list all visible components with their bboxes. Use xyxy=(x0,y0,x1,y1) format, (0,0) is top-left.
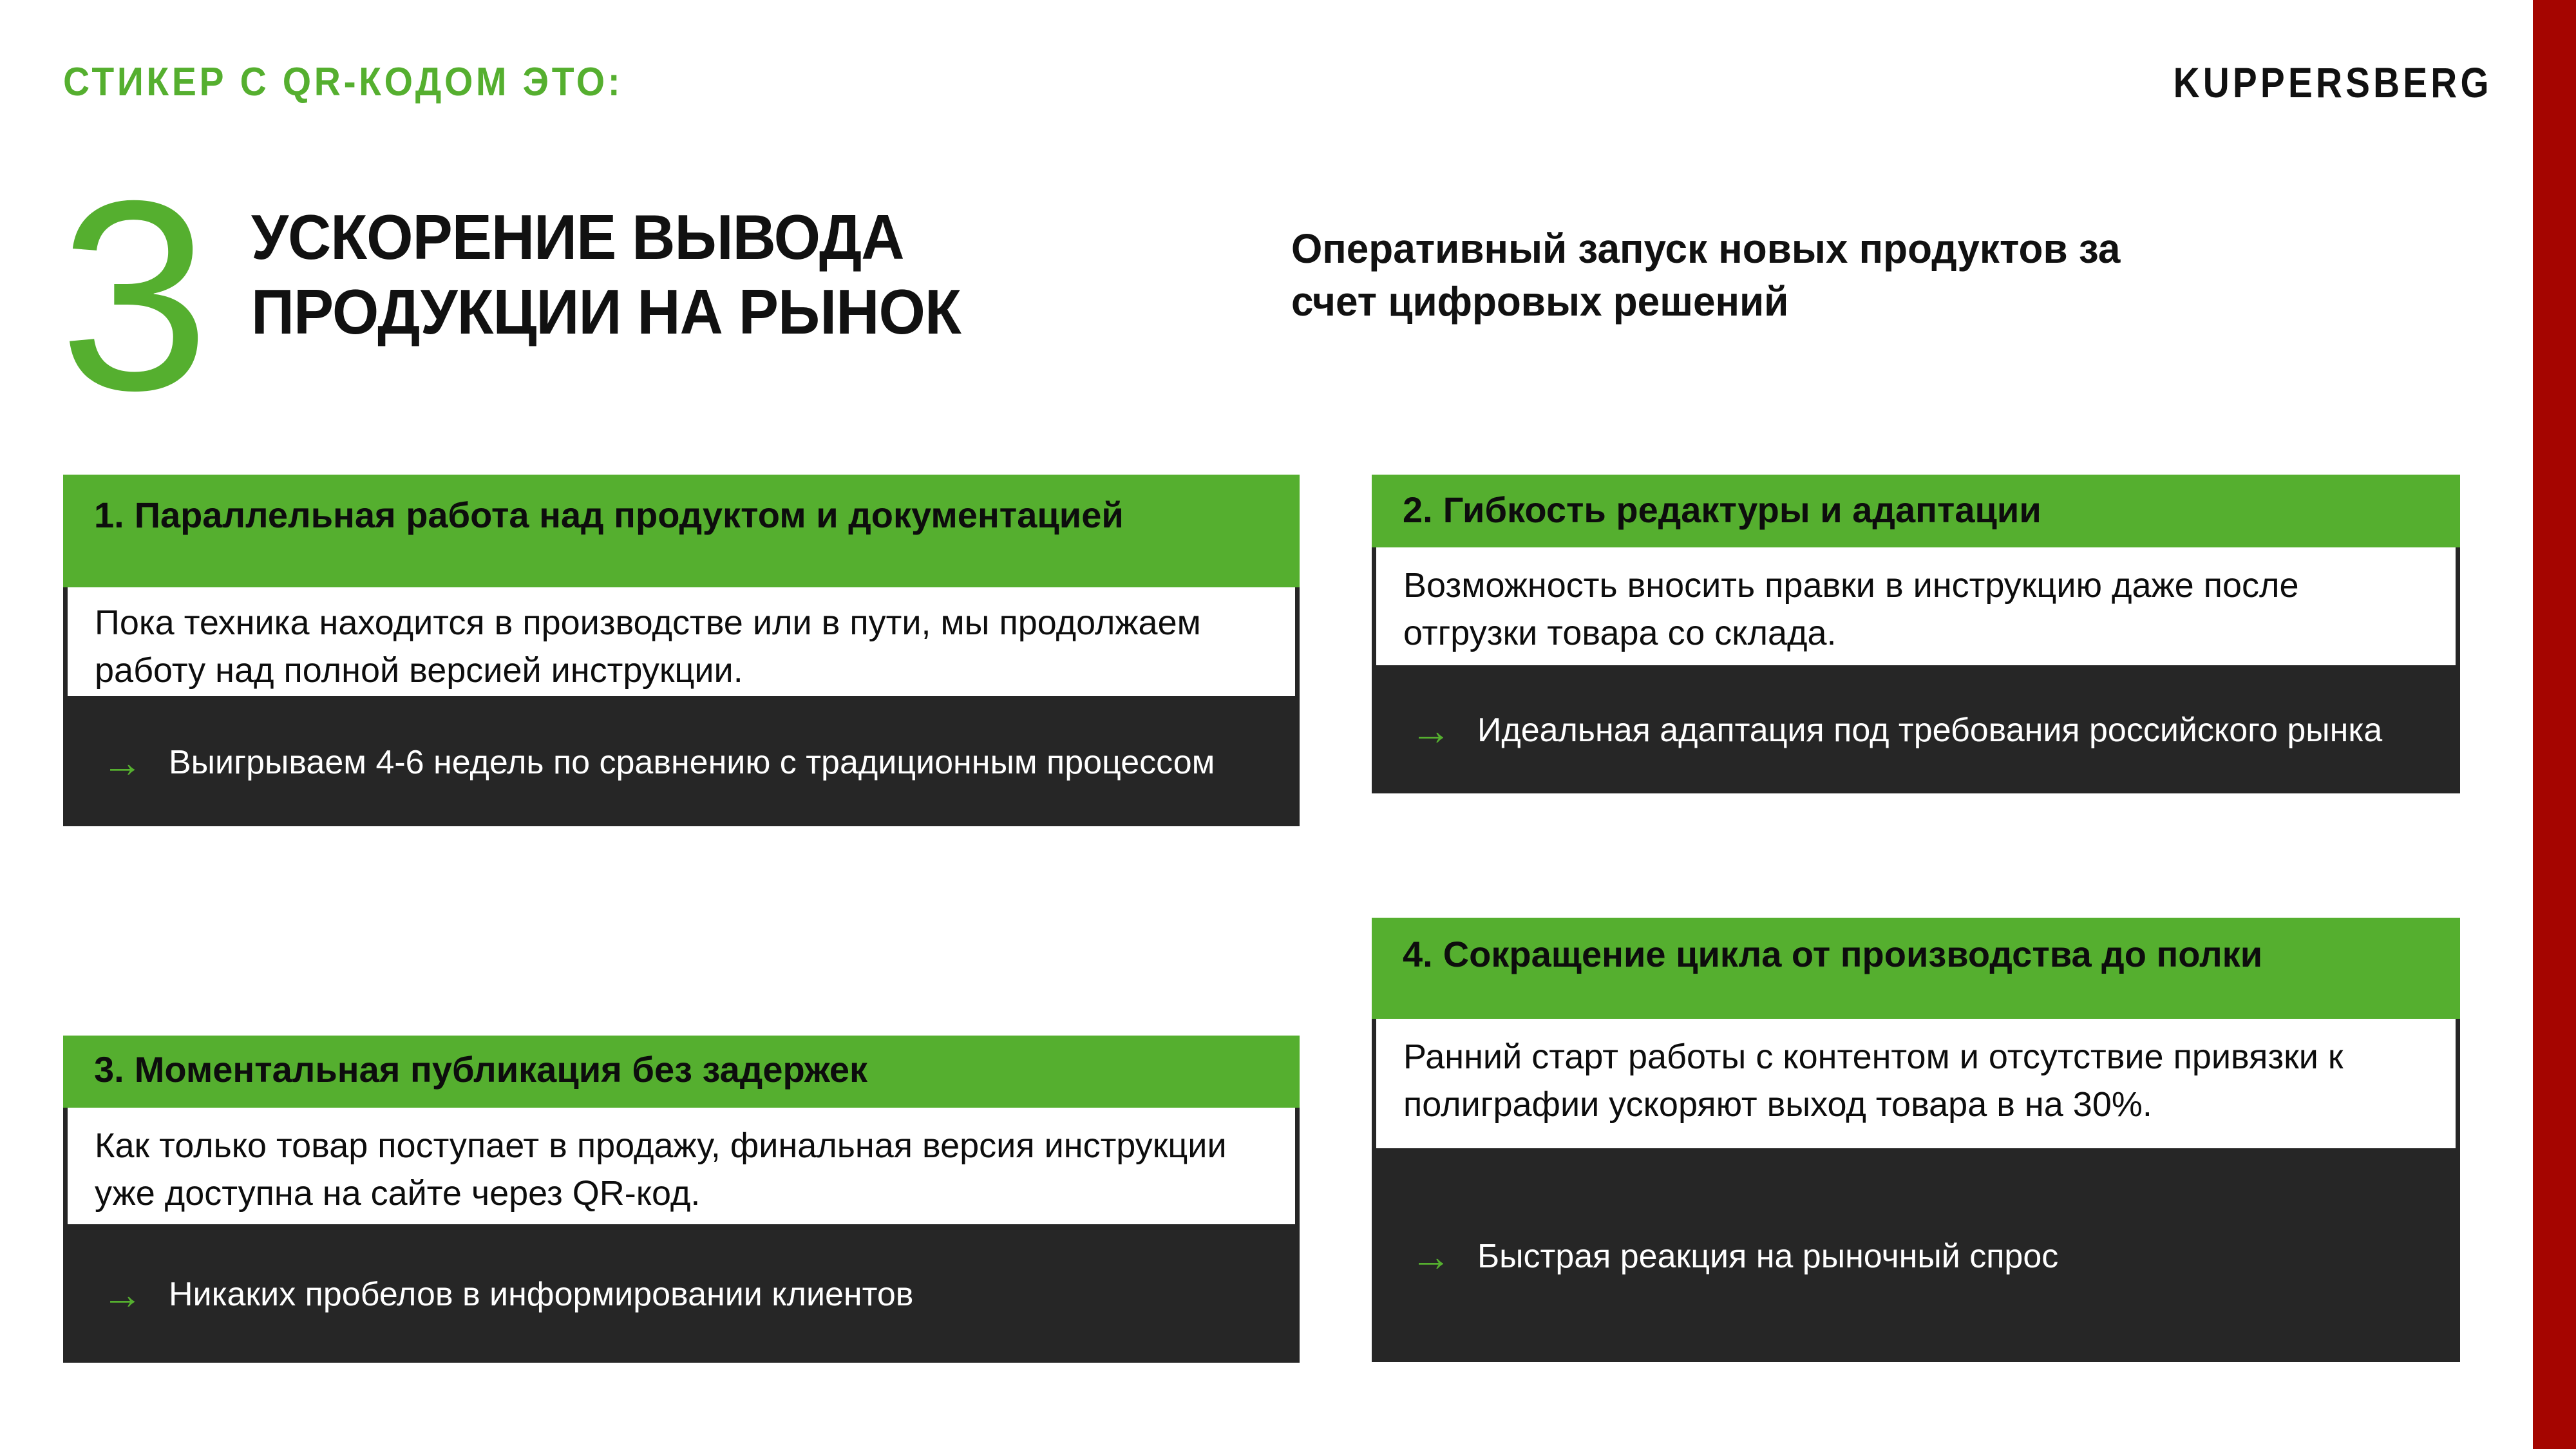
benefit-card-3: 3.Моментальная публикация без задержек К… xyxy=(63,1036,1300,1363)
arrow-right-icon: → xyxy=(1410,1236,1452,1277)
card-4-number: 4. xyxy=(1403,931,1443,978)
card-3-heading: Моментальная публикация без задержек xyxy=(135,1049,867,1090)
card-4-body: Ранний старт работы с контентом и отсутс… xyxy=(1372,1019,2460,1153)
section-number: 3 xyxy=(59,161,206,431)
card-2-header: 2.Гибкость редактуры и адаптации xyxy=(1372,475,2460,547)
card-1-body: Пока техника находится в производстве ил… xyxy=(63,587,1300,701)
card-4-header: 4.Сокращение цикла от производства до по… xyxy=(1372,918,2460,1019)
card-3-result: Никаких пробелов в информировании клиент… xyxy=(169,1272,913,1317)
card-3-header: 3.Моментальная публикация без задержек xyxy=(63,1036,1300,1108)
card-2-body: Возможность вносить правки в инструкцию … xyxy=(1372,547,2460,670)
card-1-footer: → Выигрываем 4-6 недель по сравнению с т… xyxy=(63,701,1300,826)
card-2-footer: → Идеальная адаптация под требования рос… xyxy=(1372,670,2460,793)
benefit-card-1: 1.Параллельная работа над продуктом и до… xyxy=(63,475,1300,826)
card-3-footer: → Никаких пробелов в информировании клие… xyxy=(63,1229,1300,1363)
page-subtitle: Оперативный запуск новых продуктов за сч… xyxy=(1291,222,2197,328)
card-4-footer: → Быстрая реакция на рыночный спрос xyxy=(1372,1153,2460,1362)
benefit-card-2: 2.Гибкость редактуры и адаптации Возможн… xyxy=(1372,475,2460,793)
card-2-result: Идеальная адаптация под требования росси… xyxy=(1477,708,2382,753)
card-1-number: 1. xyxy=(94,491,135,539)
card-1-heading: Параллельная работа над продуктом и доку… xyxy=(135,495,1124,535)
card-3-body: Как только товар поступает в продажу, фи… xyxy=(63,1108,1300,1229)
arrow-right-icon: → xyxy=(102,1274,143,1315)
card-1-result: Выигрываем 4-6 недель по сравнению с тра… xyxy=(169,740,1215,785)
benefit-card-4: 4.Сокращение цикла от производства до по… xyxy=(1372,918,2460,1362)
card-4-result: Быстрая реакция на рыночный спрос xyxy=(1477,1234,2058,1279)
red-accent-bar xyxy=(2533,0,2576,1449)
arrow-right-icon: → xyxy=(1410,710,1452,751)
card-2-number: 2. xyxy=(1403,486,1443,534)
card-4-heading: Сокращение цикла от производства до полк… xyxy=(1443,934,2262,974)
page-title: УСКОРЕНИЕ ВЫВОДА ПРОДУКЦИИ НА РЫНОК xyxy=(251,200,1206,349)
slide-canvas: СТИКЕР С QR-КОДОМ ЭТО: KUPPERSBERG 3 УСК… xyxy=(0,0,2576,1449)
card-3-number: 3. xyxy=(94,1046,135,1094)
brand-logo: KUPPERSBERG xyxy=(2173,58,2492,107)
arrow-right-icon: → xyxy=(102,742,143,783)
card-1-header: 1.Параллельная работа над продуктом и до… xyxy=(63,475,1300,587)
eyebrow-heading: СТИКЕР С QR-КОДОМ ЭТО: xyxy=(63,59,623,105)
card-2-heading: Гибкость редактуры и адаптации xyxy=(1443,489,2041,530)
